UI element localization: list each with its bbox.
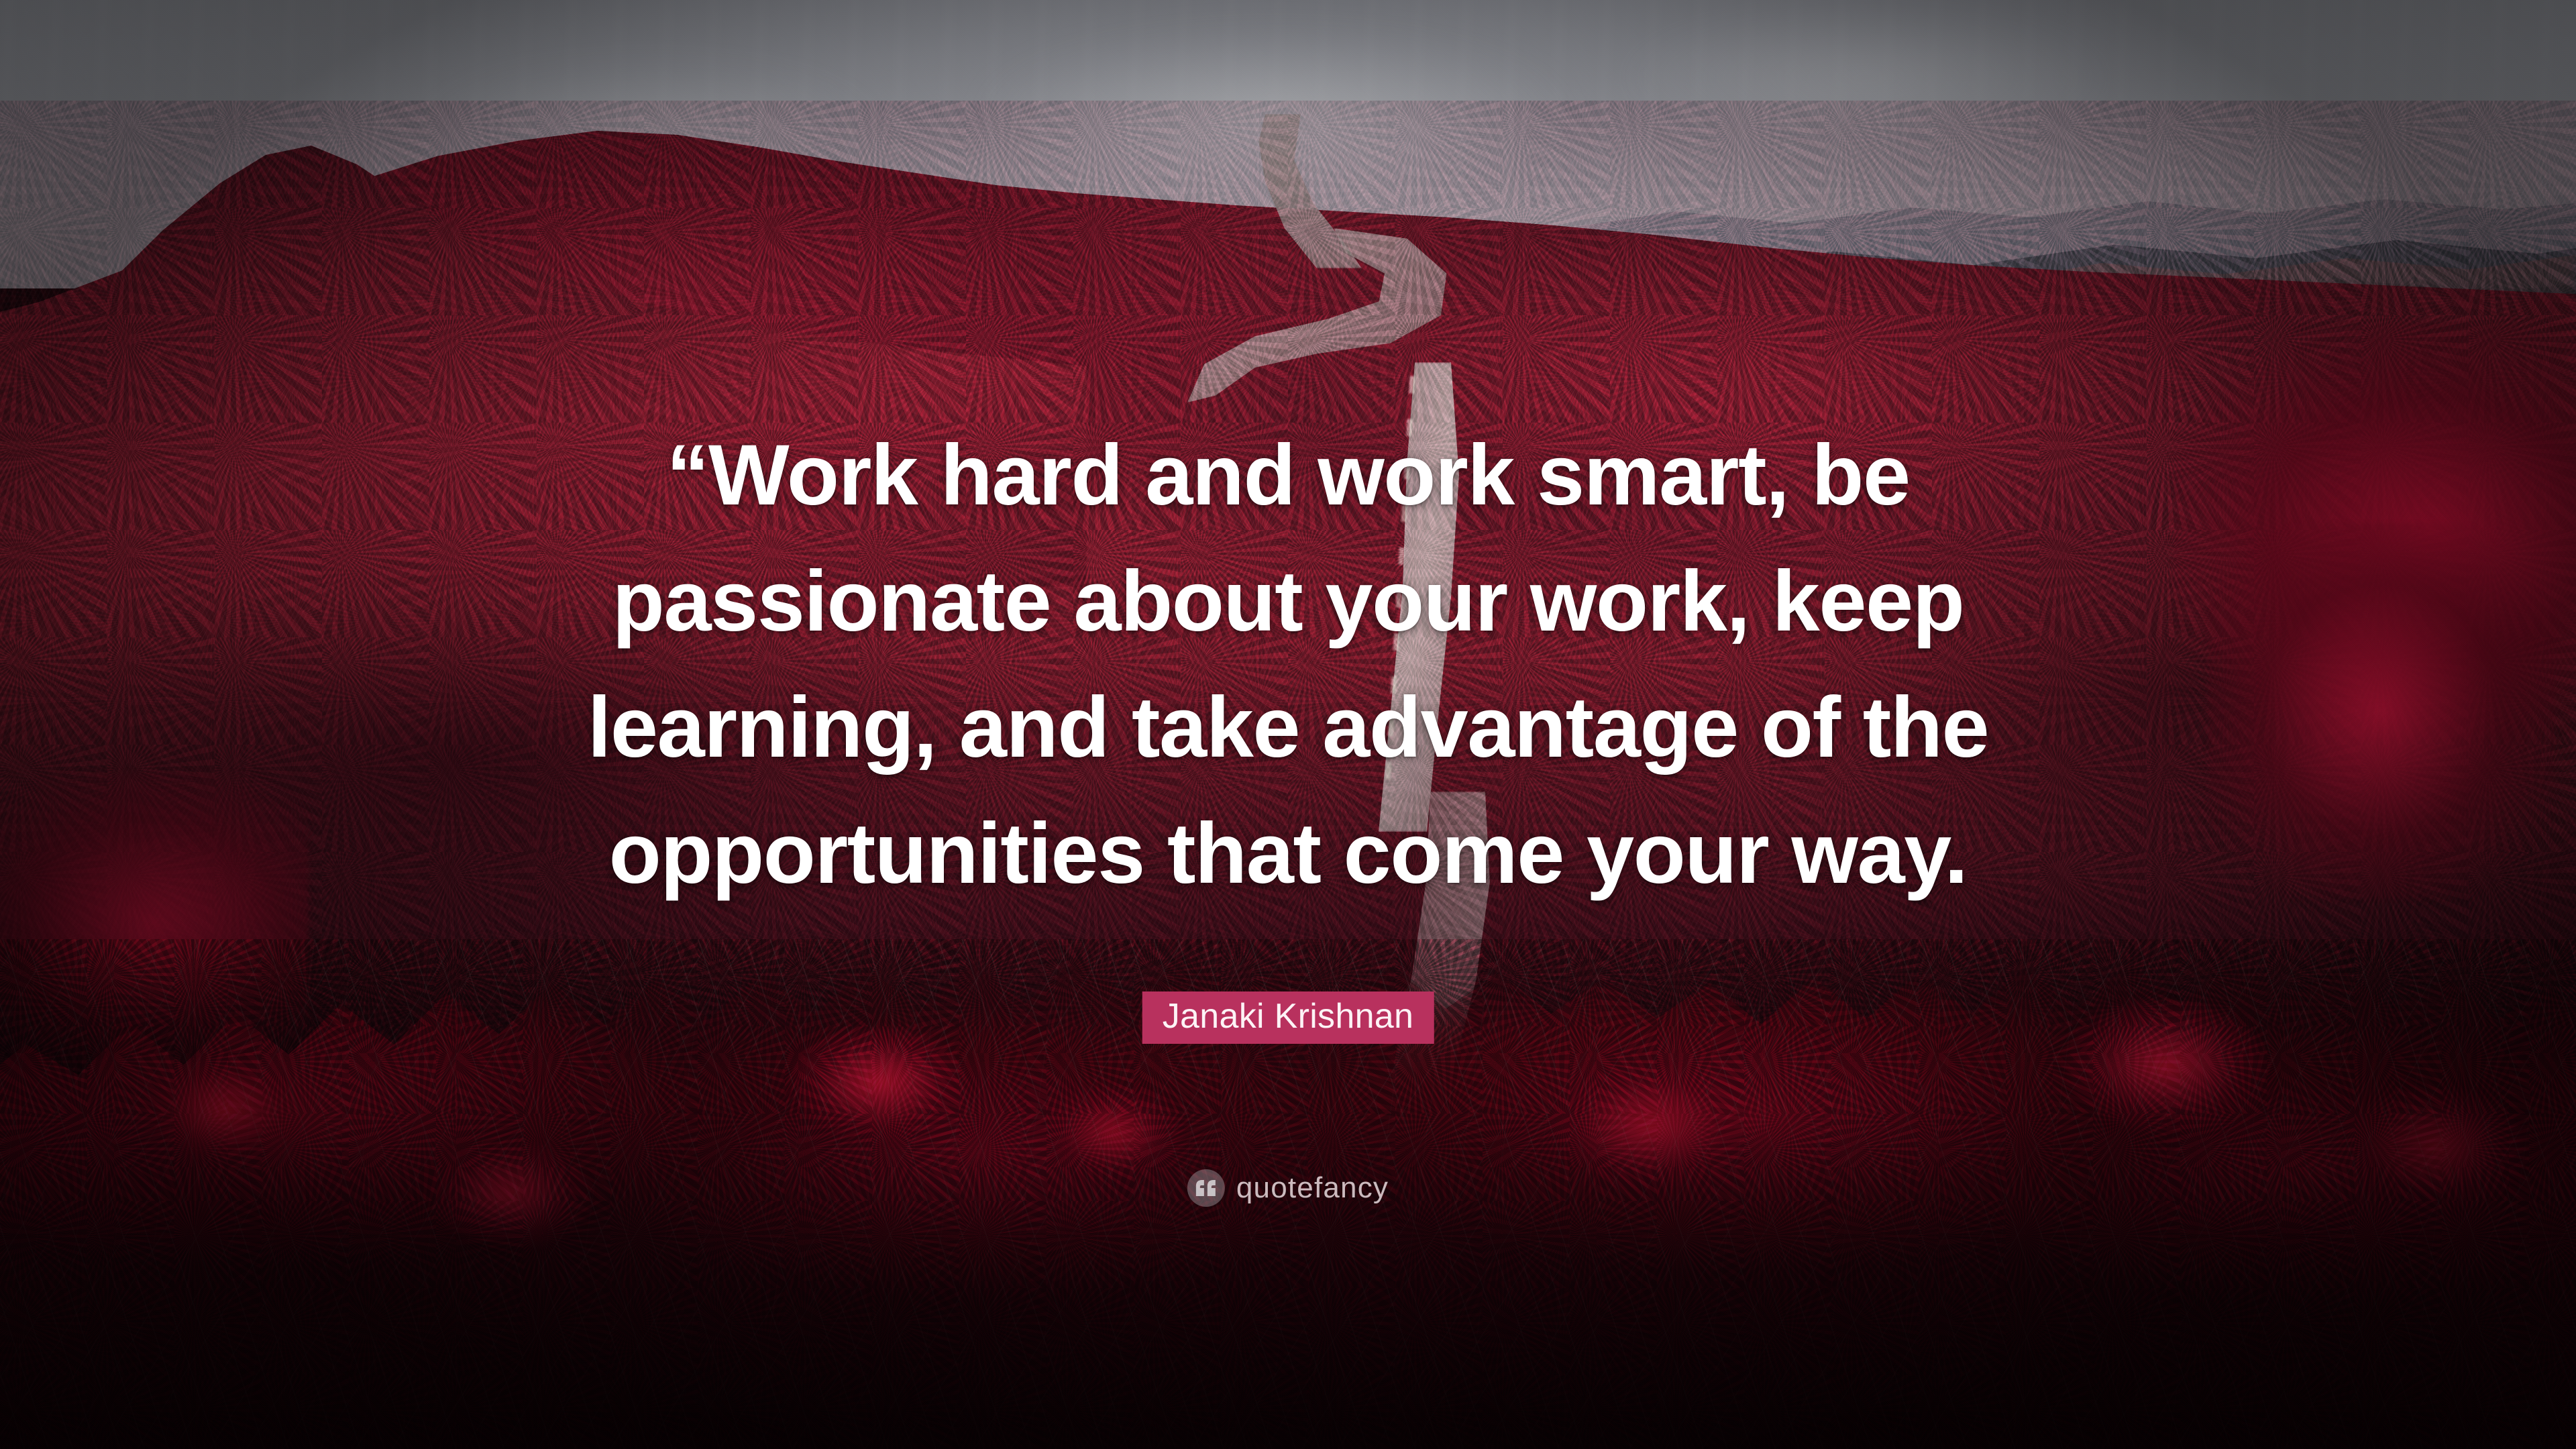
text-overlay: “Work hard and work smart, be passionate… xyxy=(0,0,2576,1449)
wallpaper-canvas: “Work hard and work smart, be passionate… xyxy=(0,0,2576,1449)
quote-block: “Work hard and work smart, be passionate… xyxy=(463,413,2113,918)
quotefancy-brand-text: quotefancy xyxy=(1236,1173,1389,1203)
quote-mark-icon xyxy=(1187,1169,1225,1207)
author-badge: Janaki Krishnan xyxy=(1142,991,1434,1044)
quote-text: “Work hard and work smart, be passionate… xyxy=(463,413,2113,918)
author-name: Janaki Krishnan xyxy=(1163,997,1414,1036)
quotefancy-watermark[interactable]: quotefancy xyxy=(1187,1169,1389,1207)
